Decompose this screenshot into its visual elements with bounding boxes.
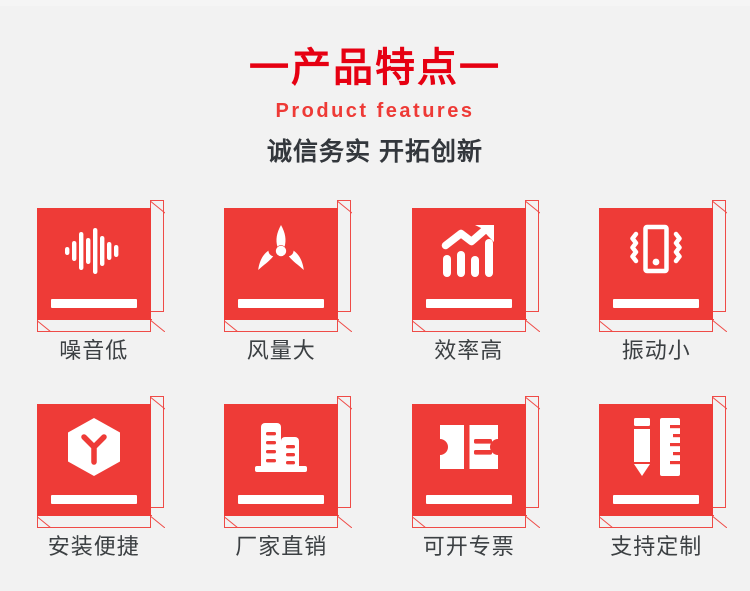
page-slogan: 诚信务实 开拓创新	[0, 124, 750, 168]
card-corner-bottom-left	[599, 312, 619, 332]
card-accent-bar	[51, 495, 137, 504]
feature-item-invoice[interactable]: 可开专票	[375, 392, 563, 588]
page-subtitle: Product features	[0, 92, 750, 124]
feature-card	[412, 396, 526, 516]
card-corner-bottom-right	[145, 312, 165, 332]
card-accent-bar	[613, 299, 699, 308]
sound-wave-icon	[37, 208, 151, 294]
invoice-ticket-icon	[412, 404, 526, 490]
feature-card	[599, 396, 713, 516]
feature-item-factory[interactable]: 厂家直销	[188, 392, 376, 588]
feature-grid: 噪音低	[0, 196, 750, 588]
factory-building-icon	[224, 404, 338, 490]
card-corner-bottom-left	[412, 508, 432, 528]
card-accent-bar	[426, 299, 512, 308]
card-accent-bar	[51, 299, 137, 308]
feature-item-efficiency[interactable]: 效率高	[375, 196, 563, 392]
page-title: 一产品特点一	[0, 0, 750, 92]
feature-label: 支持定制	[610, 532, 702, 562]
feature-card	[224, 200, 338, 320]
card-corner-bottom-left	[37, 508, 57, 528]
card-corner-bottom-right	[520, 508, 540, 528]
page-header: 一产品特点一 Product features 诚信务实 开拓创新	[0, 0, 750, 168]
feature-card	[412, 200, 526, 320]
feature-label: 振动小	[622, 336, 691, 366]
card-corner-bottom-right	[707, 312, 727, 332]
feature-item-installation[interactable]: 安装便捷	[0, 392, 188, 588]
card-corner-bottom-right	[520, 312, 540, 332]
feature-card	[224, 396, 338, 516]
hex-nut-install-icon	[37, 404, 151, 490]
card-accent-bar	[613, 495, 699, 504]
card-corner-bottom-right	[145, 508, 165, 528]
feature-label: 可开专票	[423, 532, 515, 562]
feature-label: 噪音低	[59, 336, 128, 366]
card-accent-bar	[426, 495, 512, 504]
card-corner-bottom-left	[224, 312, 244, 332]
card-corner-bottom-left	[412, 312, 432, 332]
card-corner-bottom-right	[332, 312, 352, 332]
card-corner-bottom-left	[224, 508, 244, 528]
feature-item-airflow[interactable]: 风量大	[188, 196, 376, 392]
feature-label: 效率高	[434, 336, 503, 366]
feature-item-noise[interactable]: 噪音低	[0, 196, 188, 392]
card-corner-bottom-right	[707, 508, 727, 528]
feature-label: 安装便捷	[48, 532, 140, 562]
fan-blade-icon	[224, 208, 338, 294]
feature-item-vibration[interactable]: 振动小	[563, 196, 750, 392]
card-corner-bottom-left	[599, 508, 619, 528]
card-corner-bottom-left	[37, 312, 57, 332]
feature-label: 风量大	[247, 336, 316, 366]
vibration-phone-icon	[599, 208, 713, 294]
product-features-page: 一产品特点一 Product features 诚信务实 开拓创新	[0, 0, 750, 591]
feature-card	[37, 200, 151, 320]
card-accent-bar	[238, 299, 324, 308]
feature-item-customization[interactable]: 支持定制	[563, 392, 750, 588]
bar-chart-growth-icon	[412, 208, 526, 294]
card-corner-bottom-right	[332, 508, 352, 528]
feature-card	[599, 200, 713, 320]
feature-label: 厂家直销	[235, 532, 327, 562]
card-accent-bar	[238, 495, 324, 504]
feature-card	[37, 396, 151, 516]
pencil-ruler-icon	[599, 404, 713, 490]
